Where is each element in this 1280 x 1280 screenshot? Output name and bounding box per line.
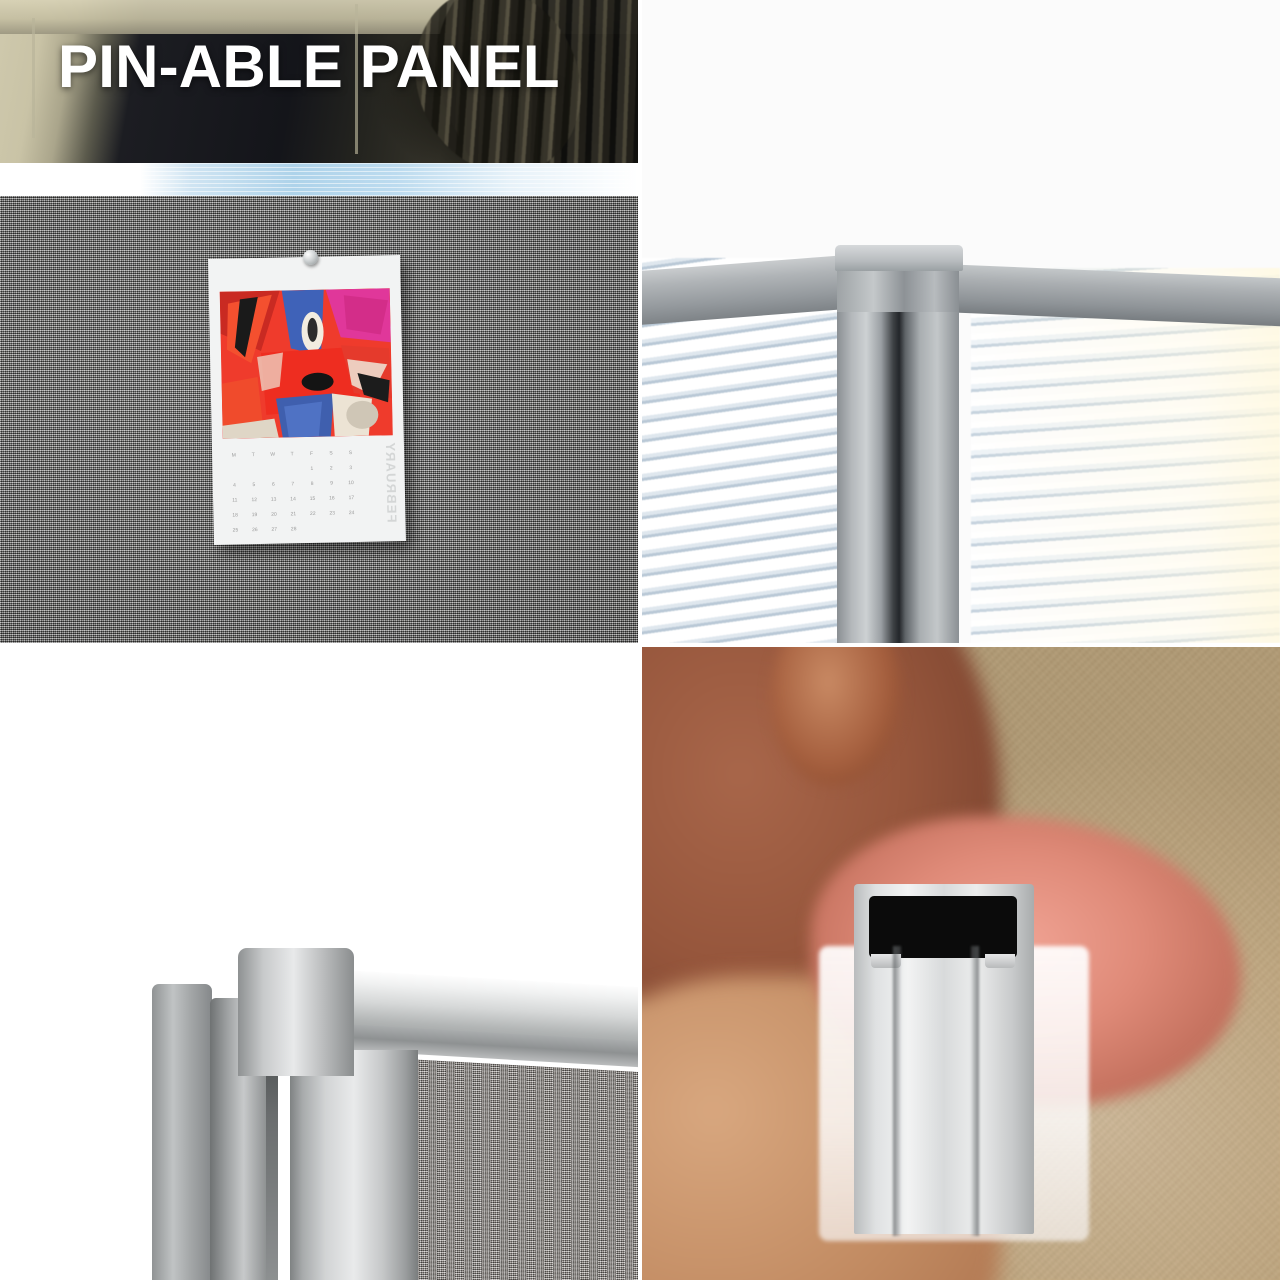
calendar-artwork: [220, 288, 393, 439]
calendar-day: 12: [244, 493, 264, 508]
panel-pin-able-panel: M T W T F S S 12345678910111213141516171…: [0, 0, 638, 643]
abstract-painting-icon: [220, 288, 393, 439]
calendar-weekday: W: [263, 448, 283, 463]
calendar-day: 18: [225, 508, 245, 523]
ceiling-light-reflection: [0, 163, 638, 199]
calendar-day: 23: [322, 506, 342, 521]
extrusion-groove-left: [893, 946, 901, 1236]
calendar-day: 6: [263, 478, 283, 493]
calendar-day: 7: [283, 477, 303, 492]
aluminum-corner-joint: [238, 948, 354, 1076]
headline-pin-able-panel: PIN-ABLE PANEL: [58, 36, 628, 97]
calendar-day: 2: [321, 461, 341, 476]
calendar-weekday: S: [341, 446, 361, 461]
aluminum-front-post: [290, 1050, 418, 1280]
calendar-date-grid: M T W T F S S 12345678910111213141516171…: [224, 446, 362, 535]
calendar-day: 13: [264, 493, 284, 508]
calendar-day: [244, 463, 264, 478]
calendar-weekday: S: [321, 446, 341, 461]
calendar-days: 1234567891011121314151617181920212223242…: [224, 461, 362, 539]
calendar-day: 10: [341, 476, 361, 491]
calendar-day: [224, 463, 244, 478]
calendar-day: [342, 521, 362, 536]
calendar-weekday: T: [282, 447, 302, 462]
calendar-day: 5: [244, 478, 264, 493]
calendar-weekday: F: [302, 447, 322, 462]
ceiling-rod-icon: [32, 18, 35, 138]
calendar-day: 28: [284, 522, 304, 537]
calendar-month-label: FEBRUARY: [383, 441, 400, 523]
calendar-day: 27: [264, 523, 284, 538]
push-pin-icon: [303, 250, 318, 265]
feature-collage: M T W T F S S 12345678910111213141516171…: [0, 0, 1280, 1280]
calendar-day: 1: [302, 462, 322, 477]
calendar-day: 3: [341, 461, 361, 476]
calendar-day: 26: [245, 523, 265, 538]
calendar-day: 9: [322, 476, 342, 491]
calendar-day: 4: [225, 478, 245, 493]
vertical-divider: [638, 0, 642, 1280]
panel-customizable-configuration: CUSTOMIZABLE CONFIGURATION: [641, 0, 1280, 643]
calendar-day: 16: [322, 491, 342, 506]
calendar-weekday: T: [243, 448, 263, 463]
calendar-day: 15: [303, 492, 323, 507]
calendar-day: 22: [303, 507, 323, 522]
calendar-weekday: M: [224, 448, 244, 463]
calendar-day: 20: [264, 508, 284, 523]
pinned-calendar: M T W T F S S 12345678910111213141516171…: [208, 255, 406, 545]
calendar-day: [263, 463, 283, 478]
calendar-day: 19: [245, 508, 265, 523]
calendar-day: 14: [283, 492, 303, 507]
calendar-day: 25: [226, 523, 246, 538]
calendar-day: [323, 521, 343, 536]
panel-toolless-assembly: TOOLLESS ASSEMBLY: [641, 646, 1280, 1280]
horizontal-divider: [0, 643, 1280, 647]
calendar-day: 11: [225, 493, 245, 508]
panel-light-aircraft-aluminum-frame: LIGHT AIRCRAFT ALUMINUM FRAME: [0, 646, 638, 1280]
calendar-day: 8: [302, 477, 322, 492]
extrusion-channel-opening: [869, 896, 1017, 958]
calendar-day: 24: [342, 506, 362, 521]
extrusion-groove-right: [971, 946, 979, 1236]
calendar-day: 21: [284, 507, 304, 522]
calendar-day: [303, 522, 323, 537]
aluminum-rear-post: [152, 984, 212, 1280]
calendar-day: 17: [341, 491, 361, 506]
calendar-day: [283, 462, 303, 477]
partition-post-cap: [835, 245, 963, 271]
